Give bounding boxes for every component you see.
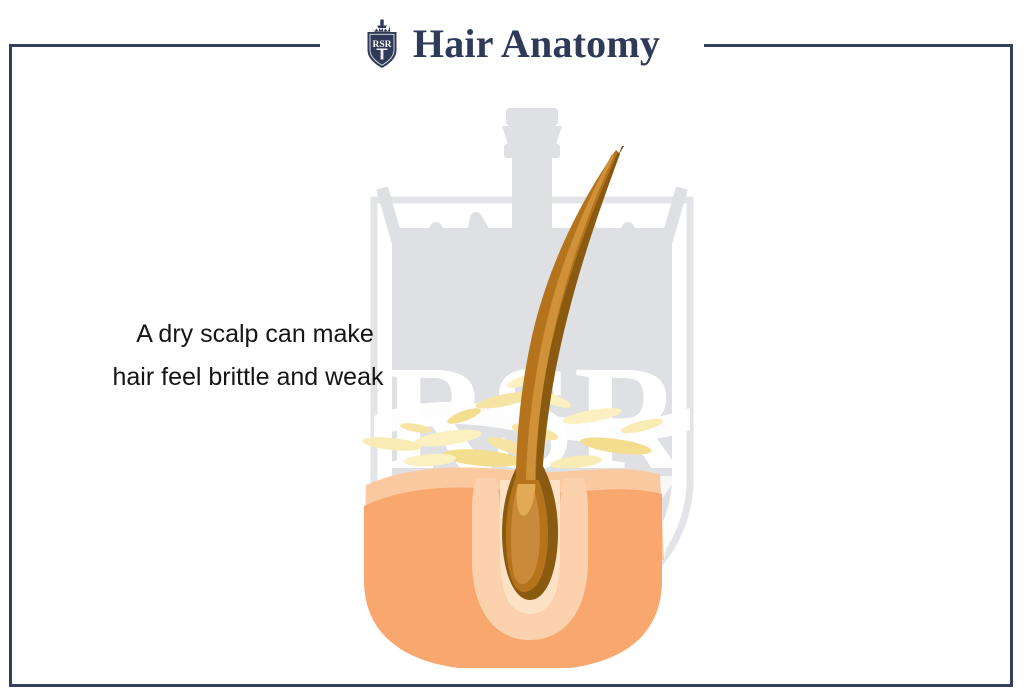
caption-text: A dry scalp can make hair feel brittle a… [58, 313, 438, 399]
page-title: Hair Anatomy [413, 24, 660, 64]
caption-line-2: hair feel brittle and weak [58, 356, 438, 399]
brand-title-text: Hair Anatomy [413, 21, 660, 66]
shield-crown-logo-icon: RSR [364, 19, 400, 69]
header: RSR Hair Anatomy [0, 14, 1024, 74]
caption-line-1: A dry scalp can make [58, 313, 438, 356]
